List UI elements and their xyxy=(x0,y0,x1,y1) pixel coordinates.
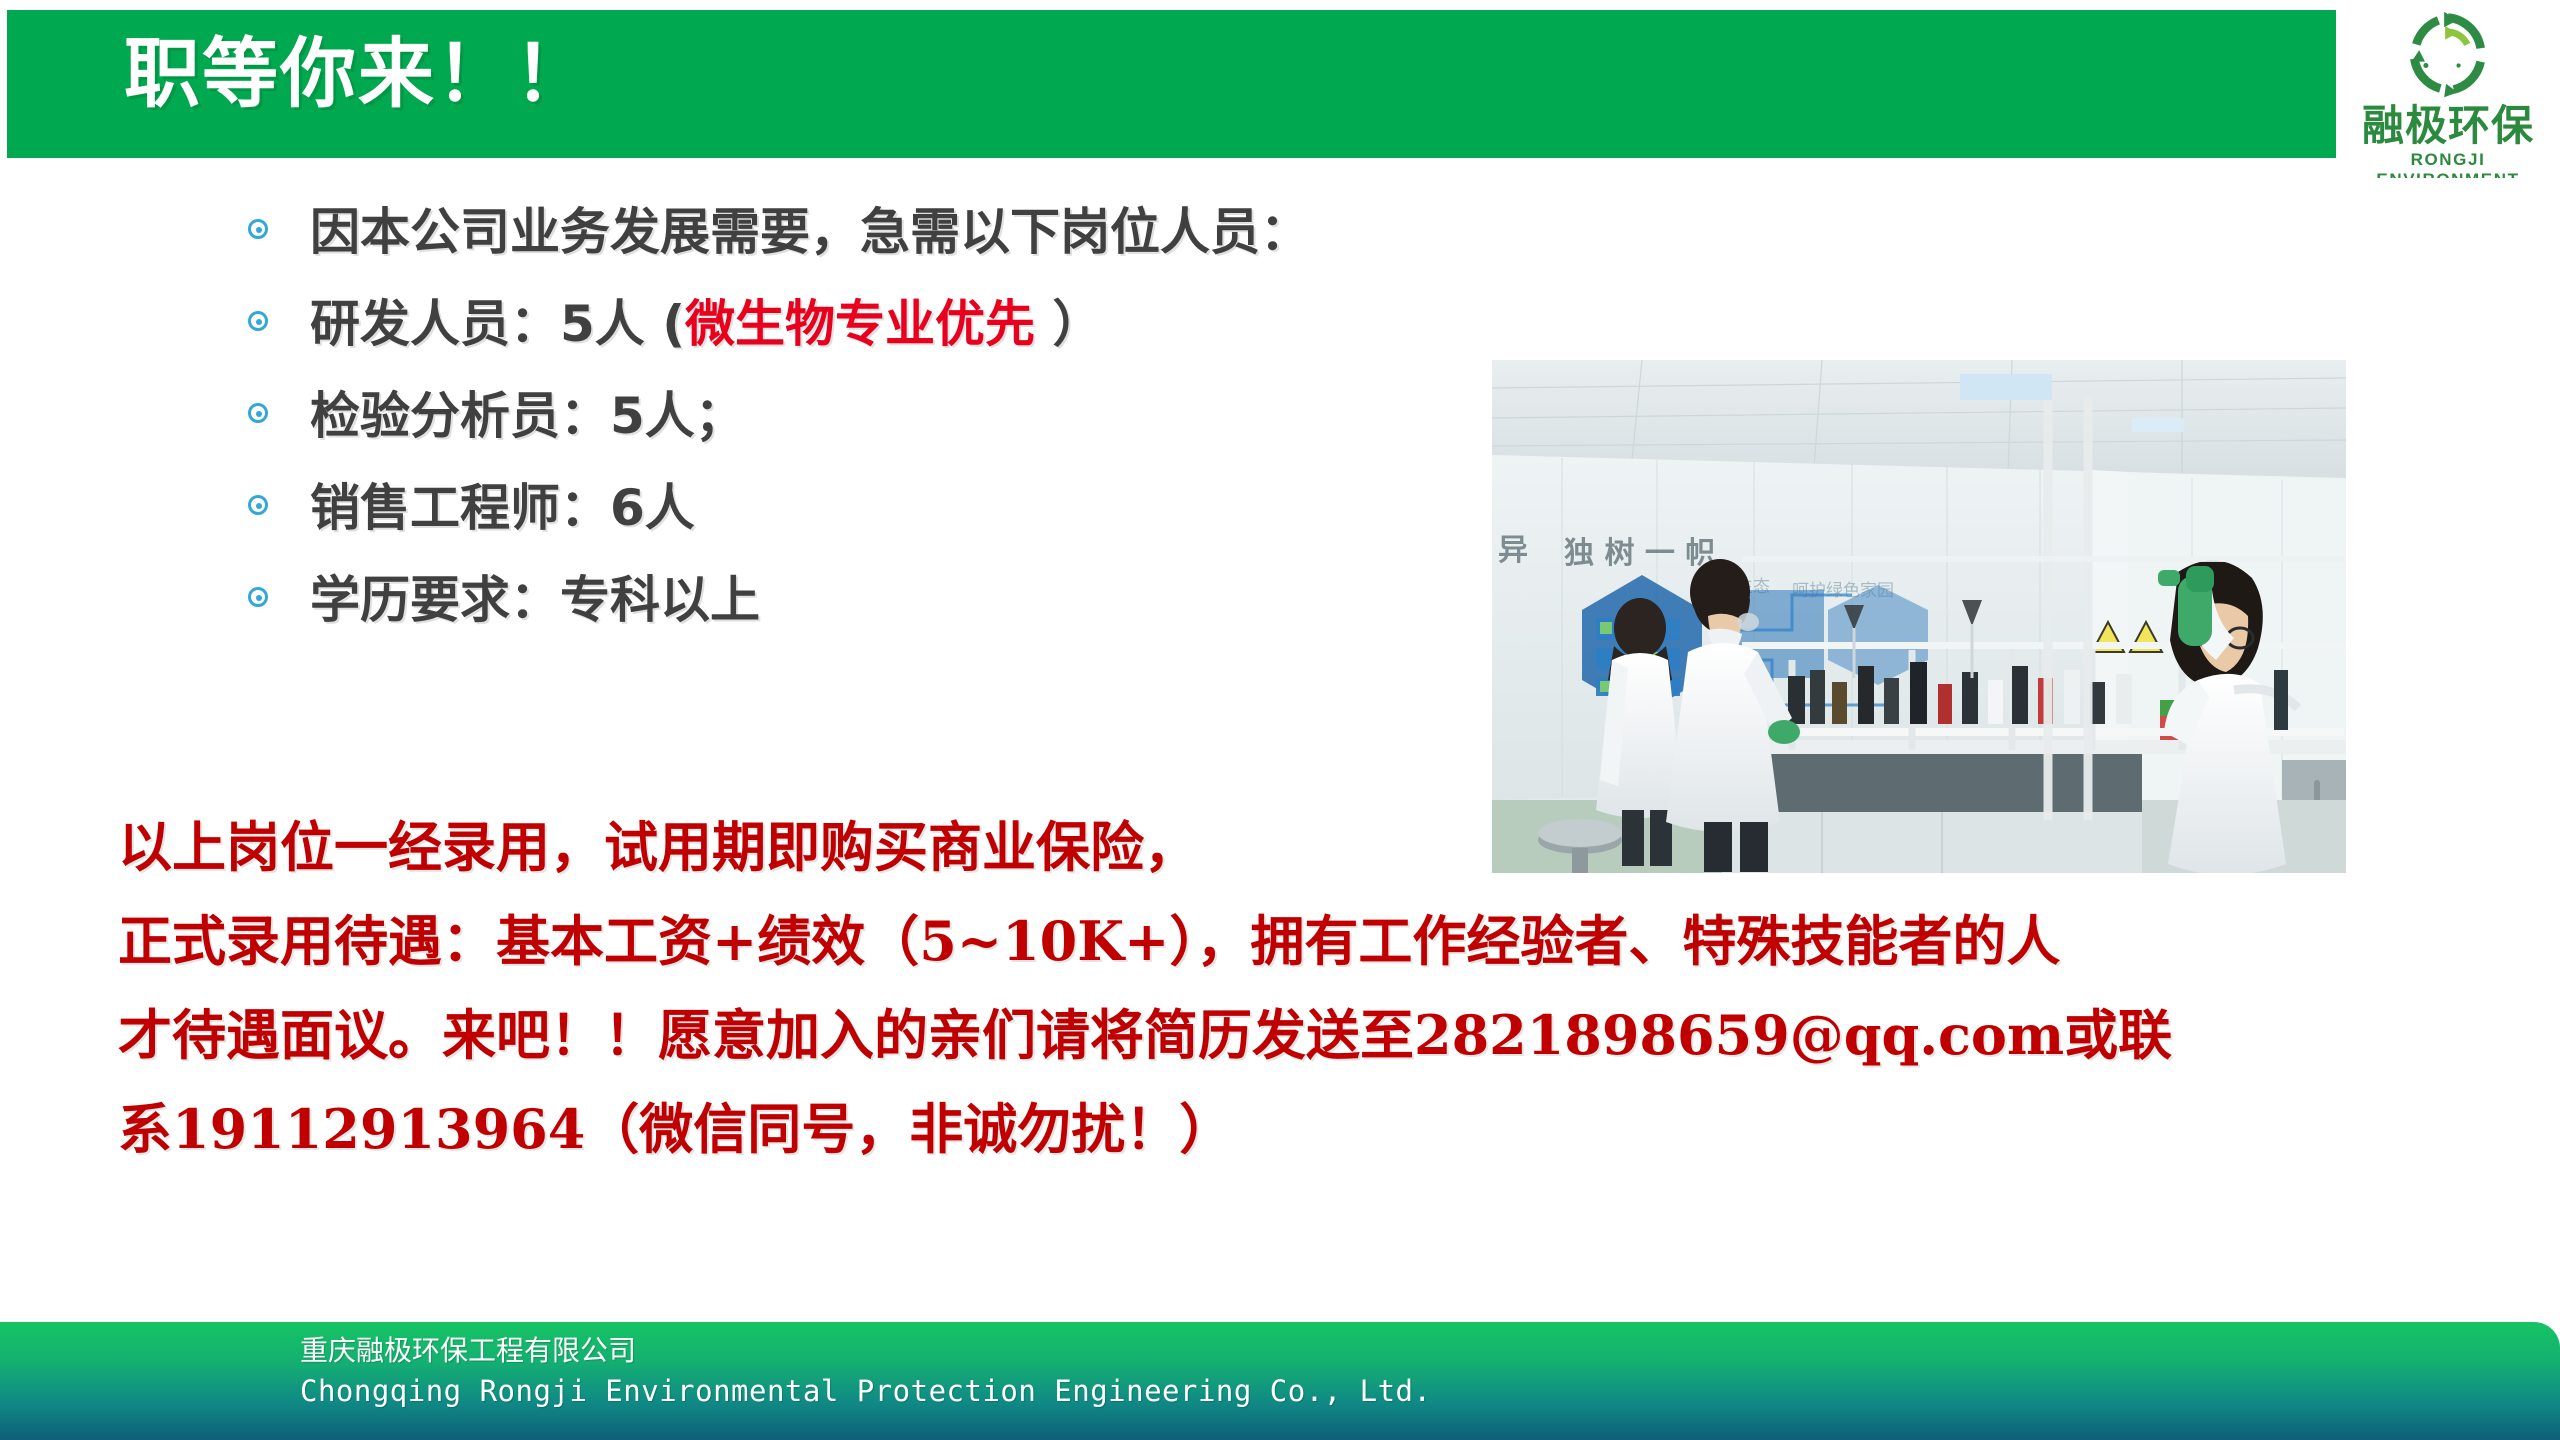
svg-text:独 树 一 帜: 独 树 一 帜 xyxy=(1564,536,1715,571)
notice-line: 正式录用待遇：基本工资+绩效（5~10K+），拥有工作经验者、特殊技能者的人 xyxy=(118,894,2498,988)
laboratory-photo-illustration: 异 独 树 一 帜 守住生态 呵护绿色家园 xyxy=(1492,360,2346,873)
circled-dot-bullet-icon xyxy=(248,403,274,429)
list-item: 学历要求：专科以上 xyxy=(248,564,1498,636)
circled-dot-bullet-icon xyxy=(248,219,274,245)
notice-line: 以上岗位一经录用，试用期即购买商业保险， xyxy=(118,800,2498,894)
list-item-label: 销售工程师：6人 xyxy=(310,478,695,538)
list-item: 检验分析员：5人； xyxy=(248,380,1498,452)
laboratory-photo: 异 独 树 一 帜 守住生态 呵护绿色家园 xyxy=(1492,360,2346,873)
job-bullet-list: 因本公司业务发展需要，急需以下岗位人员： 研发人员：5人 (微生物专业优先 ） … xyxy=(248,196,1498,656)
list-item-label: 检验分析员：5人； xyxy=(310,386,745,446)
list-item-tail: ） xyxy=(1035,295,1102,353)
circled-dot-bullet-icon xyxy=(248,495,274,521)
footer-company-name-cn: 重庆融极环保工程有限公司 xyxy=(300,1332,636,1370)
list-item: 因本公司业务发展需要，急需以下岗位人员： xyxy=(248,196,1498,268)
logo-company-name-cn: 融极环保 xyxy=(2336,104,2560,148)
notice-line: 系19112913964（微信同号，非诚勿扰！） xyxy=(118,1082,2498,1176)
list-item-label: 研发人员：5人 (微生物专业优先 ） xyxy=(310,294,1102,354)
recycle-circle-icon xyxy=(2400,6,2496,102)
list-item-label: 因本公司业务发展需要，急需以下岗位人员： xyxy=(310,202,1310,262)
notice-line: 才待遇面议。来吧！！愿意加入的亲们请将简历发送至2821898659@qq.co… xyxy=(118,988,2498,1082)
list-item: 销售工程师：6人 xyxy=(248,472,1498,544)
page-title: 职等你来！！ xyxy=(124,24,592,124)
list-item-highlight: 微生物专业优先 xyxy=(685,295,1035,353)
list-item-label: 学历要求：专科以上 xyxy=(310,570,760,630)
circled-dot-bullet-icon xyxy=(248,587,274,613)
list-item-text: 研发人员：5人 ( xyxy=(310,295,685,353)
footer-company-name-en: Chongqing Rongji Environmental Protectio… xyxy=(300,1372,1431,1410)
footer-bar: 重庆融极环保工程有限公司 Chongqing Rongji Environmen… xyxy=(0,1322,2560,1440)
logo-company-name-en: RONGJI ENVIRONMENT xyxy=(2336,150,2560,178)
recruitment-notice: 以上岗位一经录用，试用期即购买商业保险， 正式录用待遇：基本工资+绩效（5~10… xyxy=(118,800,2498,1176)
company-logo: 融极环保 RONGJI ENVIRONMENT xyxy=(2336,0,2560,178)
list-item: 研发人员：5人 (微生物专业优先 ） xyxy=(248,288,1498,360)
svg-text:异: 异 xyxy=(1498,533,1528,568)
circled-dot-bullet-icon xyxy=(248,311,274,337)
